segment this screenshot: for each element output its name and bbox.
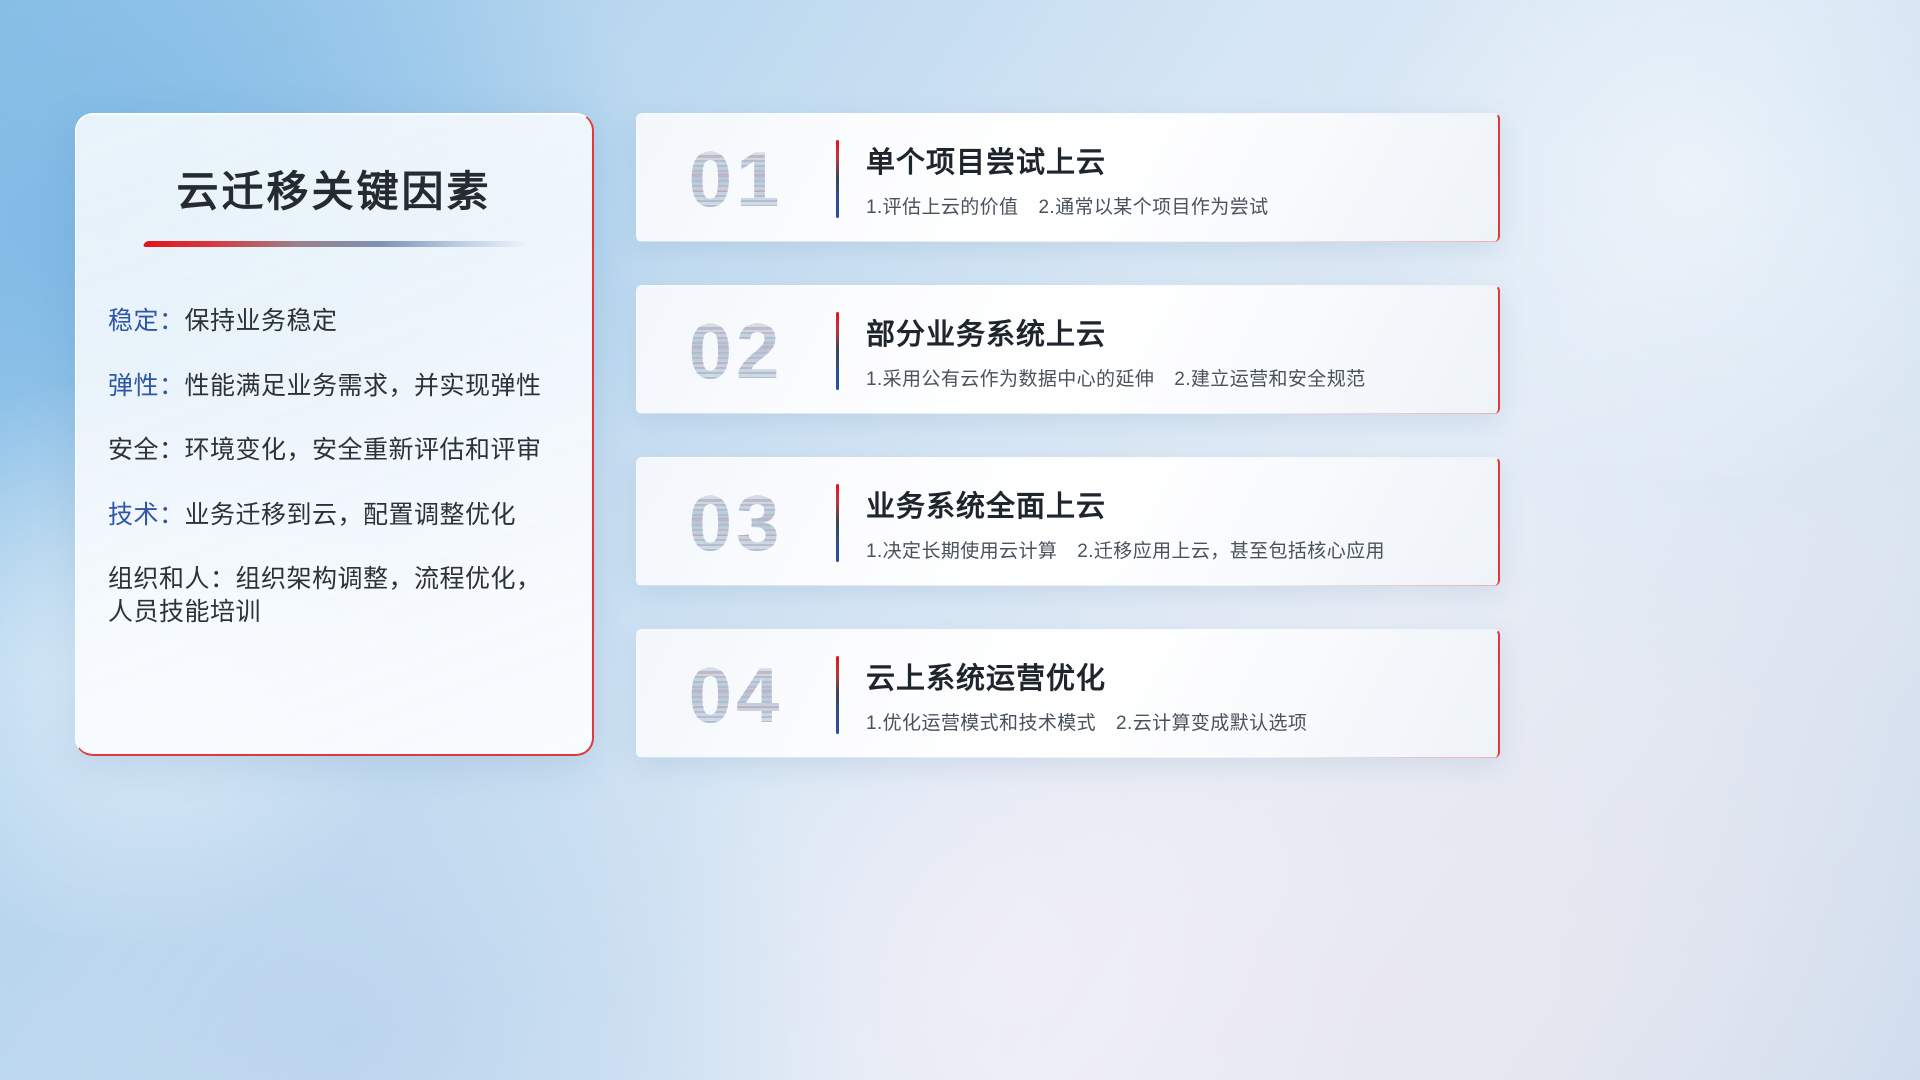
- title-underline-rule: [142, 241, 525, 247]
- factor-label: 弹性：: [108, 372, 185, 400]
- step-point-2: 2.云计算变成默认选项: [1116, 713, 1307, 734]
- factor-item: 稳定：保持业务稳定: [108, 305, 566, 338]
- factor-item: 弹性：性能满足业务需求，并实现弹性: [108, 370, 566, 403]
- step-number: 04 04: [636, 656, 836, 734]
- factor-text: 保持业务稳定: [185, 307, 338, 335]
- step-subtitle: 1.决定长期使用云计算2.迁移应用上云，甚至包括核心应用: [866, 536, 1385, 563]
- step-title: 云上系统运营优化: [866, 655, 1307, 697]
- key-factors-panel: 云迁移关键因素 稳定：保持业务稳定 弹性：性能满足业务需求，并实现弹性 安全：环…: [75, 113, 594, 756]
- step-number: 03 03: [636, 484, 836, 562]
- factor-label: 组织和人：: [108, 565, 236, 593]
- step-subtitle: 1.评估上云的价值2.通常以某个项目作为尝试: [866, 192, 1269, 219]
- step-point-2: 2.通常以某个项目作为尝试: [1038, 197, 1268, 218]
- factor-text: 业务迁移到云，配置调整优化: [185, 501, 517, 529]
- factor-label: 安全：: [108, 436, 185, 464]
- step-number-text: 03: [689, 479, 784, 567]
- step-point-2: 2.迁移应用上云，甚至包括核心应用: [1077, 541, 1385, 562]
- step-number-text: 04: [689, 651, 784, 739]
- step-point-1: 1.决定长期使用云计算: [866, 541, 1057, 562]
- step-card[interactable]: 04 04 云上系统运营优化 1.优化运营模式和技术模式2.云计算变成默认选项: [636, 629, 1500, 758]
- step-number-text: 01: [689, 135, 784, 223]
- factor-list: 稳定：保持业务稳定 弹性：性能满足业务需求，并实现弹性 安全：环境变化，安全重新…: [76, 305, 592, 628]
- step-number-text: 02: [689, 307, 784, 395]
- factor-text: 性能满足业务需求，并实现弹性: [185, 372, 542, 400]
- migration-steps-list: 01 01 单个项目尝试上云 1.评估上云的价值2.通常以某个项目作为尝试 02…: [636, 113, 1500, 801]
- step-title: 部分业务系统上云: [866, 311, 1366, 353]
- step-card[interactable]: 02 02 部分业务系统上云 1.采用公有云作为数据中心的延伸2.建立运营和安全…: [636, 285, 1500, 414]
- step-subtitle: 1.优化运营模式和技术模式2.云计算变成默认选项: [866, 708, 1307, 735]
- step-title: 业务系统全面上云: [866, 483, 1385, 525]
- step-point-2: 2.建立运营和安全规范: [1174, 369, 1365, 390]
- step-point-1: 1.优化运营模式和技术模式: [866, 713, 1096, 734]
- step-subtitle: 1.采用公有云作为数据中心的延伸2.建立运营和安全规范: [866, 364, 1366, 391]
- step-point-1: 1.评估上云的价值: [866, 197, 1018, 218]
- factor-label: 技术：: [108, 501, 185, 529]
- factor-label: 稳定：: [108, 307, 185, 335]
- step-card[interactable]: 01 01 单个项目尝试上云 1.评估上云的价值2.通常以某个项目作为尝试: [636, 113, 1500, 242]
- slide-canvas: 云迁移关键因素 稳定：保持业务稳定 弹性：性能满足业务需求，并实现弹性 安全：环…: [0, 0, 1920, 1080]
- factor-text: 环境变化，安全重新评估和评审: [185, 436, 542, 464]
- factor-item: 组织和人：组织架构调整，流程优化，人员技能培训: [108, 563, 566, 628]
- step-point-1: 1.采用公有云作为数据中心的延伸: [866, 369, 1154, 390]
- factor-item: 技术：业务迁移到云，配置调整优化: [108, 499, 566, 532]
- factor-item: 安全：环境变化，安全重新评估和评审: [108, 434, 566, 467]
- step-number: 02 02: [636, 312, 836, 390]
- step-title: 单个项目尝试上云: [866, 139, 1269, 181]
- step-card[interactable]: 03 03 业务系统全面上云 1.决定长期使用云计算2.迁移应用上云，甚至包括核…: [636, 457, 1500, 586]
- step-number: 01 01: [636, 140, 836, 218]
- panel-title: 云迁移关键因素: [76, 158, 592, 219]
